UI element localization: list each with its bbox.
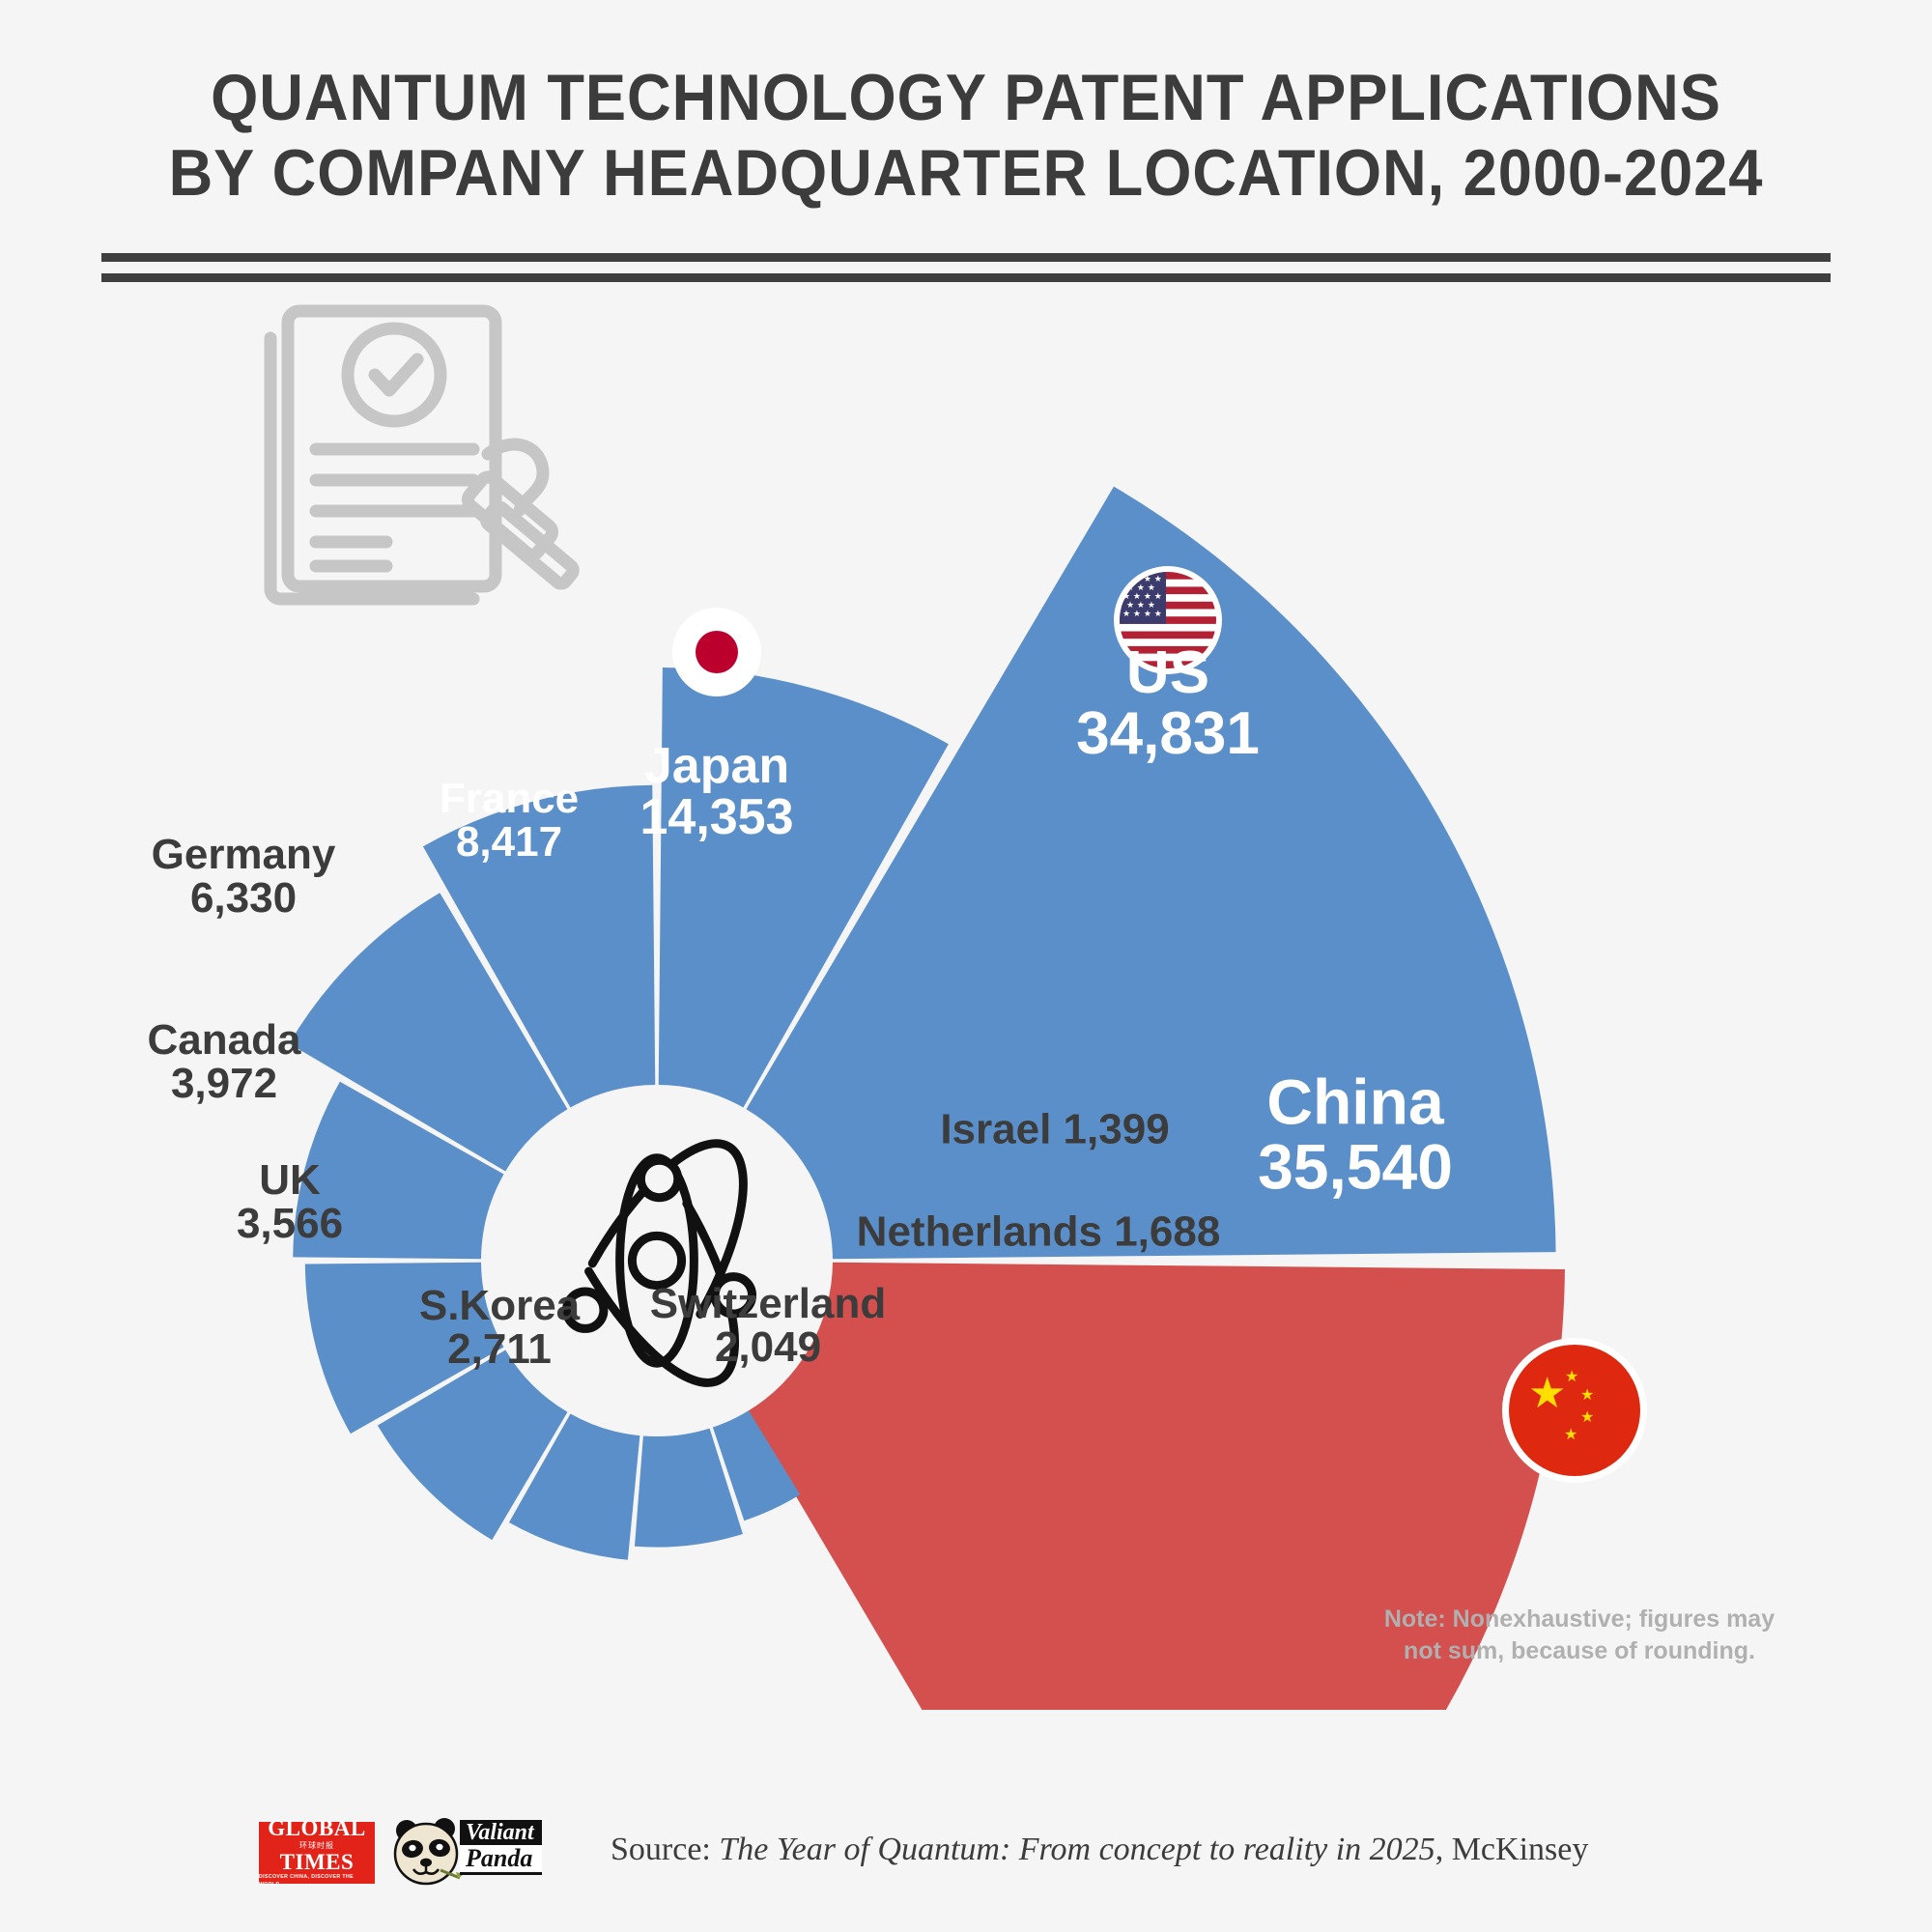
- slice-label-japan: Japan 14,353: [639, 741, 793, 843]
- page-title: QUANTUM TECHNOLOGY PATENT APPLICATIONS B…: [0, 60, 1932, 211]
- title-line-1: QUANTUM TECHNOLOGY PATENT APPLICATIONS: [68, 60, 1864, 135]
- slice-label-canada: Canada 3,972: [148, 1019, 301, 1106]
- title-line-2: BY COMPANY HEADQUARTER LOCATION, 2000-20…: [68, 135, 1864, 211]
- gt-logo-line-1: GLOBAL: [268, 1818, 365, 1839]
- slice-label-switzerland: Switzerland 2,049: [650, 1283, 887, 1370]
- divider-rule-top: [101, 253, 1831, 262]
- flag-jp-icon: [672, 608, 761, 696]
- source-line: Source: The Year of Quantum: From concep…: [611, 1832, 1588, 1868]
- svg-text:★: ★: [1580, 1407, 1594, 1426]
- slice-label-france: France 8,417: [440, 778, 579, 865]
- svg-text:★: ★: [1528, 1369, 1566, 1418]
- slice-label-uk: UK 3,566: [237, 1159, 343, 1246]
- footer: GLOBAL 环球时报 TIMES DISCOVER CHINA, DISCOV…: [0, 1816, 1932, 1913]
- slice-label-israel: Israel 1,399: [940, 1109, 1169, 1152]
- source-title: The Year of Quantum: From concept to rea…: [719, 1832, 1435, 1867]
- slice-label-china: China 35,540: [1258, 1070, 1453, 1201]
- polar-area-chart: ★ ★ ★ ★ ★ ★ ★ ★ ★ ★ ★ ★ ★ ★ ★ ★ ★ ★: [0, 280, 1932, 1710]
- svg-text:★: ★: [1580, 1385, 1594, 1404]
- flag-cn-icon: ★ ★ ★ ★ ★: [1502, 1338, 1647, 1483]
- donut-hole: [488, 1092, 826, 1430]
- chart-note: Note: Nonexhaustive; figures may not sum…: [1372, 1604, 1787, 1667]
- title-divider: [101, 253, 1831, 282]
- valiant-panda-wordmark: Valiant Panda: [460, 1820, 542, 1875]
- svg-text:★ ★ ★ ★: ★ ★ ★ ★: [1122, 610, 1162, 619]
- patent-document-stamp-icon: [270, 311, 576, 599]
- chart-svg: ★ ★ ★ ★ ★ ★ ★ ★ ★ ★ ★ ★ ★ ★ ★ ★ ★ ★: [0, 280, 1932, 1710]
- slice-label-skorea: S.Korea 2,711: [419, 1285, 580, 1372]
- gt-logo-tagline: DISCOVER CHINA, DISCOVER THE WORLD: [259, 1873, 375, 1889]
- gt-logo-line-2: TIMES: [280, 1852, 355, 1873]
- source-prefix: Source:: [611, 1832, 719, 1867]
- global-times-logo[interactable]: GLOBAL 环球时报 TIMES DISCOVER CHINA, DISCOV…: [259, 1822, 375, 1884]
- svg-text:★: ★: [1565, 1367, 1578, 1385]
- note-line-2: not sum, because of rounding.: [1372, 1635, 1787, 1667]
- vp-word-panda: Panda: [460, 1845, 542, 1875]
- gt-logo-chinese: 环球时报: [299, 1841, 334, 1850]
- valiant-panda-logo[interactable]: Valiant Panda: [390, 1818, 569, 1888]
- note-line-1: Note: Nonexhaustive; figures may: [1372, 1604, 1787, 1635]
- svg-text:★: ★: [1564, 1425, 1577, 1443]
- slice-label-us: US 34,831: [1076, 642, 1260, 764]
- source-suffix: , McKinsey: [1435, 1832, 1589, 1867]
- slice-label-netherlands: Netherlands 1,688: [857, 1211, 1221, 1255]
- panda-head-icon: [390, 1818, 468, 1888]
- slice-label-germany: Germany 6,330: [152, 834, 336, 921]
- vp-word-valiant: Valiant: [460, 1820, 542, 1845]
